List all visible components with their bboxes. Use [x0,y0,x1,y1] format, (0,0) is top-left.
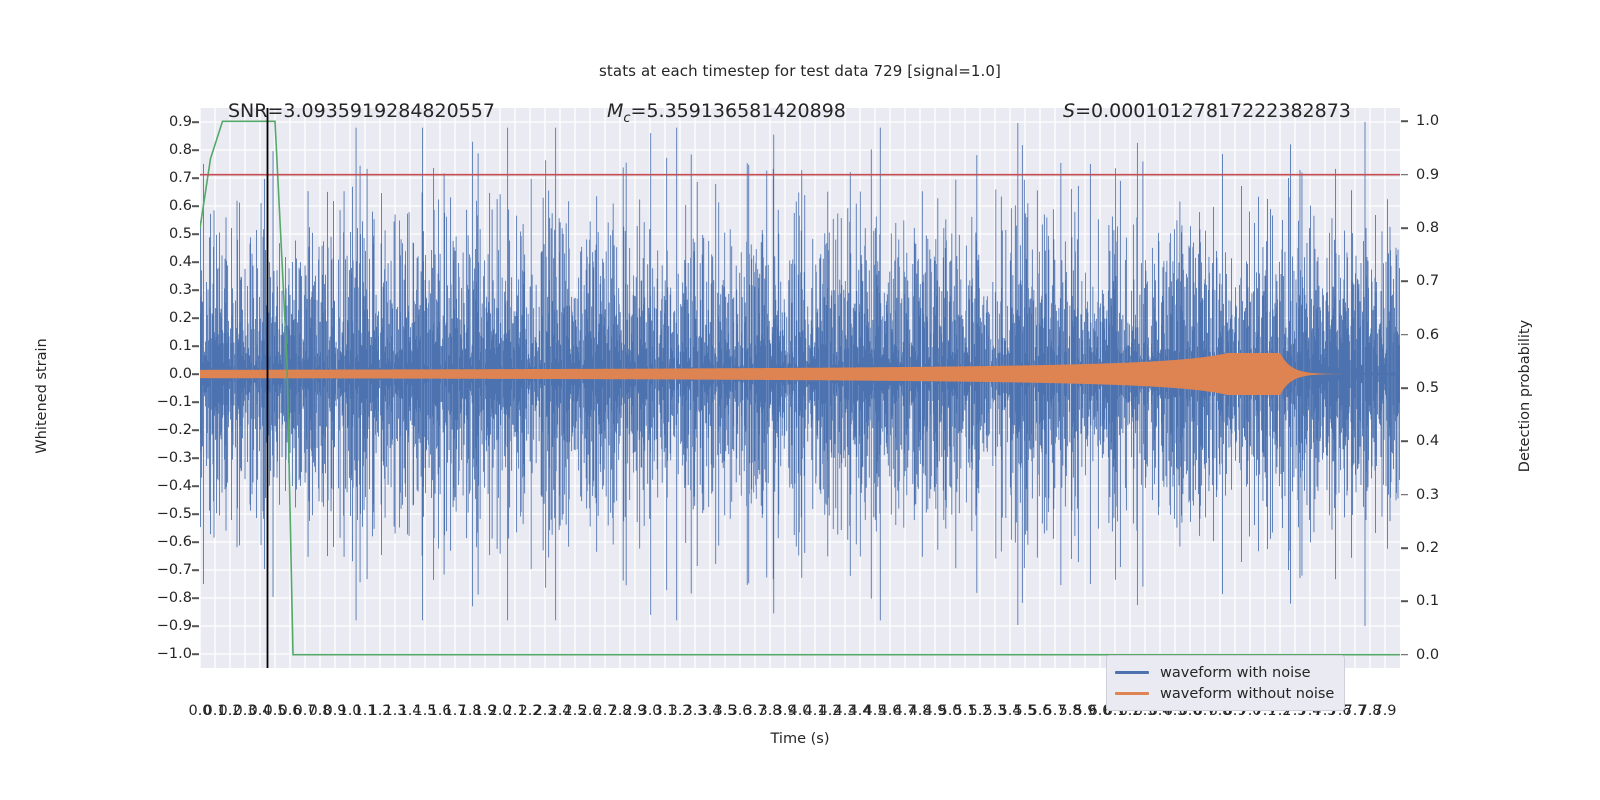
y-tick-mark-right [1401,387,1408,389]
y-tick-mark-right [1401,334,1408,336]
legend-label-with-noise: waveform with noise [1160,665,1311,681]
y-tick-label-left: −0.7 [122,562,192,578]
y-tick-label-left: −0.2 [122,422,192,438]
y-tick-label-left: −0.8 [122,590,192,606]
y-tick-mark-right [1401,654,1408,656]
x-axis-label: Time (s) [200,731,1400,747]
legend-swatch-with-noise [1115,671,1149,674]
legend[interactable]: waveform with noise waveform without noi… [1106,655,1345,711]
annotation-mc-subscript: c [623,111,630,126]
y-tick-mark-left [192,429,199,431]
x-tick-label: 7.9 [1373,703,1396,719]
legend-item-with-noise[interactable]: waveform with noise [1115,662,1334,683]
page-title: stats at each timestep for test data 729… [0,62,1600,80]
y-tick-mark-right [1401,601,1408,603]
annotation-s-equals: = [1075,100,1091,122]
y-tick-mark-left [192,401,199,403]
y-tick-mark-left [192,597,199,599]
y-tick-mark-left [192,373,199,375]
y-tick-label-left: −0.4 [122,478,192,494]
y-tick-mark-left [192,569,199,571]
y-tick-mark-right [1401,227,1408,229]
y-tick-label-left: 0.5 [122,226,192,242]
y-tick-mark-left [192,121,199,123]
legend-item-without-noise[interactable]: waveform without noise [1115,683,1334,704]
annotation-mc-equals: = [631,100,647,122]
y-axis-label-right: Detection probability [1517,281,1533,511]
y-tick-mark-left [192,485,199,487]
y-axis-label-left: Whitened strain [34,296,50,496]
y-tick-mark-right [1401,547,1408,549]
plot-area [200,108,1400,668]
plot-canvas [200,108,1400,668]
y-tick-mark-left [192,541,199,543]
y-tick-label-left: 0.6 [122,198,192,214]
y-tick-label-right: 0.9 [1416,167,1496,183]
y-tick-label-right: 0.7 [1416,273,1496,289]
y-tick-label-right: 0.0 [1416,647,1496,663]
y-tick-mark-right [1401,121,1408,123]
y-tick-mark-left [192,513,199,515]
y-tick-label-right: 0.6 [1416,327,1496,343]
y-tick-mark-left [192,205,199,207]
y-tick-mark-left [192,625,199,627]
y-tick-label-left: 0.3 [122,282,192,298]
y-tick-mark-left [192,177,199,179]
annotation-mc-symbol: M [607,100,623,122]
annotation-s-value: 0.00010127817222382873 [1091,100,1351,122]
y-tick-mark-right [1401,494,1408,496]
y-tick-mark-left [192,261,199,263]
y-tick-mark-right [1401,441,1408,443]
y-tick-mark-right [1401,174,1408,176]
y-tick-label-right: 0.5 [1416,380,1496,396]
y-tick-mark-left [192,653,199,655]
y-tick-label-left: 0.1 [122,338,192,354]
y-tick-label-left: 0.9 [122,114,192,130]
y-tick-mark-left [192,345,199,347]
annotation-snr-prefix: SNR= [228,100,283,122]
y-tick-label-right: 0.8 [1416,220,1496,236]
y-tick-label-left: −0.3 [122,450,192,466]
y-tick-label-left: 0.0 [122,366,192,382]
y-tick-mark-left [192,289,199,291]
y-tick-label-right: 0.2 [1416,540,1496,556]
y-tick-label-right: 1.0 [1416,113,1496,129]
y-tick-label-left: 0.8 [122,142,192,158]
y-tick-mark-left [192,317,199,319]
matplotlib-figure: stats at each timestep for test data 729… [0,0,1600,800]
y-tick-mark-left [192,457,199,459]
y-tick-label-right: 0.4 [1416,433,1496,449]
y-tick-label-left: 0.2 [122,310,192,326]
annotation-statistic: S=0.00010127817222382873 [1063,100,1351,122]
annotation-chirp-mass: Mc=5.359136581420898 [607,100,846,126]
annotation-snr-value: 3.0935919284820557 [283,100,495,122]
legend-swatch-without-noise [1115,692,1149,695]
y-tick-label-right: 0.1 [1416,593,1496,609]
y-tick-label-left: −0.9 [122,618,192,634]
y-tick-mark-right [1401,281,1408,283]
y-tick-mark-left [192,233,199,235]
y-tick-label-left: 0.7 [122,170,192,186]
y-tick-label-left: −1.0 [122,646,192,662]
y-tick-label-left: 0.4 [122,254,192,270]
legend-label-without-noise: waveform without noise [1160,686,1334,702]
annotation-s-symbol: S [1063,100,1075,122]
y-tick-label-left: −0.1 [122,394,192,410]
annotation-snr: SNR=3.0935919284820557 [228,100,495,122]
annotation-mc-value: 5.359136581420898 [646,100,845,122]
y-tick-label-left: −0.5 [122,506,192,522]
y-tick-label-left: −0.6 [122,534,192,550]
y-tick-label-right: 0.3 [1416,487,1496,503]
y-tick-mark-left [192,149,199,151]
